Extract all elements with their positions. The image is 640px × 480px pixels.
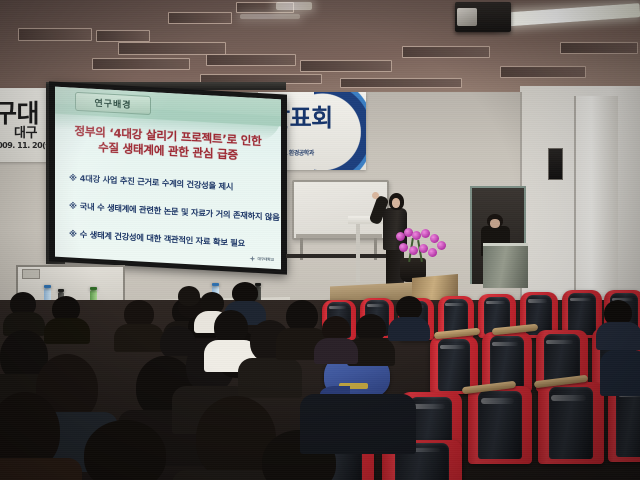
slide-bullet-text: 수 생태계 건강성에 대한 객관적인 자료 확보 필요 [80,229,245,248]
wall-rail [286,254,392,258]
ceiling-projector [455,2,511,32]
whiteboard-label [22,269,40,279]
slide-bullet: ※수 생태계 건강성에 대한 객관적인 자료 확보 필요 [69,227,274,250]
bullet-marker-icon: ※ [69,172,77,182]
ceiling-light [276,2,312,10]
podium-attendant-face [490,219,500,228]
ceiling-panel [18,28,92,41]
orchid-bloom [412,231,421,240]
orchid-bloom [437,241,446,250]
bullet-marker-icon: ※ [69,228,77,238]
orchid-bloom [421,229,430,238]
bullet-marker-icon: ※ [69,200,77,210]
ceiling-panel [96,30,150,42]
orchid-bloom [428,248,437,257]
slide-bullet: ※4대강 사업 추진 근거로 수계의 건강성을 제시 [69,171,274,194]
presenter-table-leg [356,224,360,282]
ceiling-panel [300,60,392,72]
whiteboard-tray [296,234,382,238]
orchid-bloom [419,244,428,253]
slide-logo-text: 대구대학교 [257,257,274,263]
presentation-slide: 연구배경 정부의 ‘4대강 살리기 프로젝트’로 인한 수질 생태계에 관한 관… [55,87,281,270]
ceiling-panel [340,78,462,88]
slide-logo: 대구대학교 [249,256,274,263]
ceiling-panel [206,54,296,66]
ceiling-panel [500,66,586,78]
slide-bullet: ※국내 수 생태계에 관련한 논문 및 자료가 거의 존재하지 않음 [69,199,274,222]
seat[interactable] [468,386,532,464]
slide-bullet-list: ※4대강 사업 추진 근거로 수계의 건강성을 제시 ※국내 수 생태계에 관련… [69,171,274,266]
banner-left-line2: 대구 [14,122,37,141]
orchid-bloom [399,243,408,252]
university-emblem-icon [249,256,255,262]
seat[interactable] [538,382,604,464]
slide-bullet-text: 국내 수 생태계에 관련한 논문 및 자료가 거의 존재하지 않음 [80,201,280,222]
presenter-hand [372,192,379,199]
presenter-face [392,198,400,208]
lecture-hall-photo: 구대 대구 2009. 11. 20(금) 발표회 표회 대구대학교 환경공학과… [0,0,640,480]
ceiling-panel [92,58,190,70]
orchid-bloom [409,246,418,255]
ceiling-panel [168,12,232,24]
projection-screen: 연구배경 정부의 ‘4대강 살리기 프로젝트’로 인한 수질 생태계에 관한 관… [49,81,287,274]
ceiling-panel [402,46,490,58]
ceiling-light [240,14,300,19]
ceiling-panel [560,42,638,54]
slide-bullet-text: 4대강 사업 추진 근거로 수계의 건강성을 제시 [80,173,233,192]
wall-speaker [548,148,563,180]
podium [483,243,528,288]
